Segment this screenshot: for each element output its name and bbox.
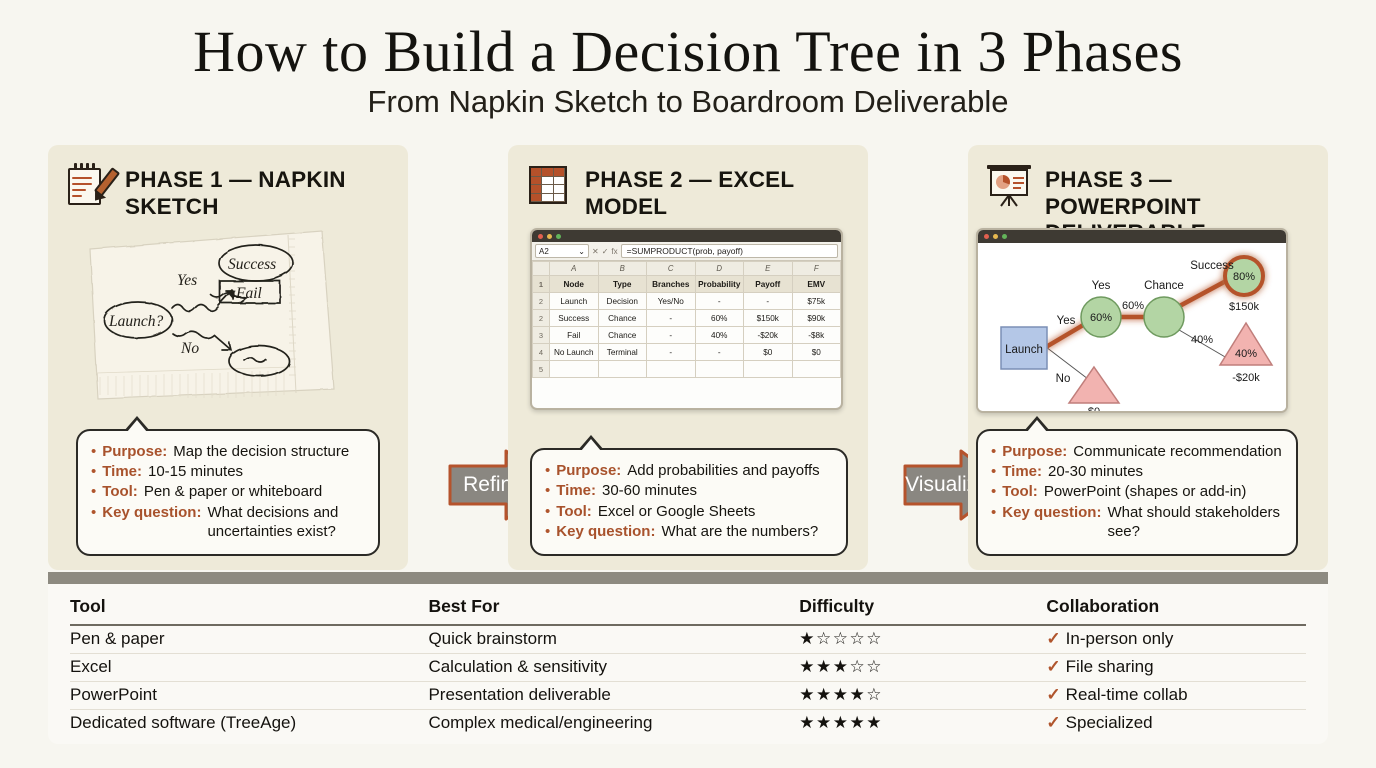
callout-label: Key question:: [1002, 503, 1101, 541]
bullet-icon: •: [545, 522, 550, 541]
formula-input[interactable]: =SUMPRODUCT(prob, payoff): [621, 244, 838, 258]
callout-item: •Time:30-60 minutes: [545, 481, 833, 500]
table-row-empty: 5: [533, 361, 841, 378]
cell-header-branches[interactable]: Branches: [647, 276, 696, 293]
presentation-chart-icon: [986, 161, 1032, 207]
table-row: PowerPoint Presentation deliverable ★★★★…: [70, 681, 1306, 709]
table-row: Pen & paper Quick brainstorm ★☆☆☆☆ ✓In-p…: [70, 625, 1306, 653]
corner-cell[interactable]: [533, 262, 550, 276]
bullet-icon: •: [545, 502, 550, 521]
table-row: 2 Launch Decision Yes/No - - $75k: [533, 293, 841, 310]
bullet-icon: •: [545, 461, 550, 480]
callout-item: •Time:10-15 minutes: [91, 462, 365, 481]
cell-tool: Pen & paper: [70, 625, 428, 653]
svg-text:60%: 60%: [1090, 312, 1112, 324]
svg-text:80%: 80%: [1233, 271, 1255, 283]
cancel-icon[interactable]: ✕: [592, 247, 599, 256]
callout-label: Purpose:: [102, 442, 167, 461]
cell[interactable]: No Launch: [550, 344, 599, 361]
cell-difficulty-stars: ★★★☆☆: [799, 653, 1046, 681]
cell[interactable]: [695, 361, 744, 378]
name-box-value: A2: [539, 247, 549, 256]
row-number[interactable]: 2: [533, 293, 550, 310]
callout-item: •Purpose:Communicate recommendation: [991, 442, 1283, 461]
cell[interactable]: [647, 361, 696, 378]
bullet-icon: •: [91, 482, 96, 501]
cell[interactable]: -: [647, 344, 696, 361]
cell-collaboration: ✓Specialized: [1046, 709, 1306, 737]
svg-text:60%: 60%: [1122, 300, 1144, 312]
cell-header-type[interactable]: Type: [598, 276, 647, 293]
napkin-sketch-image: Launch? Success Fail Yes No: [76, 213, 376, 408]
cell[interactable]: Success: [550, 310, 599, 327]
cell-header-probability[interactable]: Probability: [695, 276, 744, 293]
row-number[interactable]: 1: [533, 276, 550, 293]
page-subtitle: From Napkin Sketch to Boardroom Delivera…: [0, 84, 1376, 120]
window-titlebar: [978, 230, 1286, 243]
table-row: Excel Calculation & sensitivity ★★★☆☆ ✓F…: [70, 653, 1306, 681]
row-number[interactable]: 3: [533, 327, 550, 344]
phase-panel-2: PHASE 2 — EXCEL MODEL A2 ⌄ ✕ ✓ fx: [508, 145, 868, 570]
name-box[interactable]: A2 ⌄: [535, 244, 589, 258]
formula-value: =SUMPRODUCT(prob, payoff): [627, 246, 743, 256]
svg-text:-$20k: -$20k: [1232, 372, 1260, 384]
svg-text:Chance: Chance: [1144, 280, 1184, 292]
callout-label: Key question:: [102, 503, 201, 541]
cell-difficulty-stars: ★☆☆☆☆: [799, 625, 1046, 653]
check-icon: ✓: [1046, 713, 1060, 732]
bullet-icon: •: [91, 462, 96, 481]
column-header-best-for: Best For: [428, 596, 799, 625]
callout-label: Time:: [1002, 462, 1042, 481]
row-number[interactable]: 4: [533, 344, 550, 361]
cell-tool: Excel: [70, 653, 428, 681]
cell[interactable]: 60%: [695, 310, 744, 327]
callout-item: •Tool:Excel or Google Sheets: [545, 502, 833, 521]
callout-text: 20-30 minutes: [1048, 462, 1143, 481]
callout-item: •Purpose:Add probabilities and payoffs: [545, 461, 833, 480]
callout-item: •Key question:What decisions and uncerta…: [91, 503, 365, 541]
spreadsheet-icon: [526, 161, 572, 207]
callout-label: Time:: [556, 481, 596, 500]
callout-text: Add probabilities and payoffs: [627, 461, 819, 480]
function-icon[interactable]: fx: [611, 247, 617, 256]
check-icon: ✓: [1046, 629, 1060, 648]
minimize-window-dot[interactable]: [993, 234, 998, 239]
check-icon: ✓: [1046, 685, 1060, 704]
collaboration-label: In-person only: [1066, 629, 1174, 648]
cell[interactable]: -: [647, 327, 696, 344]
column-header-tool: Tool: [70, 596, 428, 625]
cell[interactable]: $90k: [792, 310, 841, 327]
row-number[interactable]: 2: [533, 310, 550, 327]
column-header-collaboration: Collaboration: [1046, 596, 1306, 625]
cell[interactable]: -: [695, 293, 744, 310]
cell-collaboration: ✓File sharing: [1046, 653, 1306, 681]
cell-header-payoff[interactable]: Payoff: [744, 276, 793, 293]
close-window-dot[interactable]: [984, 234, 989, 239]
callout-text: Map the decision structure: [173, 442, 349, 461]
phase-panels: PHASE 1 — NAPKIN SKETCH: [48, 145, 1328, 570]
cell[interactable]: -: [744, 293, 793, 310]
cell[interactable]: [792, 361, 841, 378]
svg-text:$150k: $150k: [1229, 301, 1259, 313]
callout-item: •Tool:Pen & paper or whiteboard: [91, 482, 365, 501]
cell-collaboration: ✓In-person only: [1046, 625, 1306, 653]
cell-tool: Dedicated software (TreeAge): [70, 709, 428, 737]
callout-text: 10-15 minutes: [148, 462, 243, 481]
phase-2-callout: •Purpose:Add probabilities and payoffs •…: [530, 448, 848, 556]
table-row: Dedicated software (TreeAge) Complex med…: [70, 709, 1306, 737]
cell[interactable]: [744, 361, 793, 378]
comparison-table-section: Tool Best For Difficulty Collaboration P…: [48, 584, 1328, 744]
callout-text: What are the numbers?: [661, 522, 818, 541]
maximize-window-dot[interactable]: [1002, 234, 1007, 239]
formula-bar-row: A2 ⌄ ✕ ✓ fx =SUMPRODUCT(prob, payoff): [532, 242, 841, 261]
column-header-b[interactable]: B: [598, 262, 647, 276]
spreadsheet-grid: A B C D E F 1 Node Type Branches Probabi…: [532, 261, 841, 378]
callout-item: •Purpose:Map the decision structure: [91, 442, 365, 461]
svg-text:Success: Success: [228, 256, 276, 273]
svg-text:40%: 40%: [1191, 334, 1213, 346]
close-window-dot[interactable]: [538, 234, 543, 239]
column-header-e[interactable]: E: [744, 262, 793, 276]
callout-text: Communicate recommendation: [1073, 442, 1281, 461]
cell-best-for: Presentation deliverable: [428, 681, 799, 709]
cell[interactable]: [598, 361, 647, 378]
bullet-icon: •: [91, 442, 96, 461]
table-row: 2 Success Chance - 60% $150k $90k: [533, 310, 841, 327]
callout-label: Time:: [102, 462, 142, 481]
column-header-f[interactable]: F: [792, 262, 841, 276]
cell-best-for: Complex medical/engineering: [428, 709, 799, 737]
cell[interactable]: $150k: [744, 310, 793, 327]
table-row: 3 Fail Chance - 40% -$20k -$8k: [533, 327, 841, 344]
callout-text: Pen & paper or whiteboard: [144, 482, 322, 501]
svg-text:Fail: Fail: [235, 285, 262, 302]
cell[interactable]: Fail: [550, 327, 599, 344]
callout-label: Key question:: [556, 522, 655, 541]
callout-text: Excel or Google Sheets: [598, 502, 756, 521]
bullet-icon: •: [991, 503, 996, 541]
svg-text:Yes: Yes: [1057, 315, 1076, 327]
bullet-icon: •: [91, 503, 96, 541]
cell-difficulty-stars: ★★★★☆: [799, 681, 1046, 709]
bullet-icon: •: [545, 481, 550, 500]
phase-2-header: PHASE 2 — EXCEL MODEL: [526, 161, 856, 220]
svg-text:$0: $0: [1088, 406, 1100, 413]
cell[interactable]: 40%: [695, 327, 744, 344]
cell[interactable]: Terminal: [598, 344, 647, 361]
callout-label: Purpose:: [1002, 442, 1067, 461]
cell[interactable]: Yes/No: [647, 293, 696, 310]
page-title: How to Build a Decision Tree in 3 Phases: [0, 18, 1376, 85]
phase-1-title: PHASE 1 — NAPKIN SKETCH: [125, 161, 396, 220]
column-header-c[interactable]: C: [647, 262, 696, 276]
section-divider: [48, 572, 1328, 584]
svg-text:No: No: [180, 340, 199, 357]
cell[interactable]: Decision: [598, 293, 647, 310]
callout-label: Tool:: [1002, 482, 1038, 501]
powerpoint-window: Launch 60% Yes Chance 80% $150k: [976, 228, 1288, 413]
cell-best-for: Calculation & sensitivity: [428, 653, 799, 681]
bullet-icon: •: [991, 442, 996, 461]
notepad-pencil-icon: [66, 161, 112, 207]
cell[interactable]: Chance: [598, 327, 647, 344]
callout-label: Purpose:: [556, 461, 621, 480]
column-header-d[interactable]: D: [695, 262, 744, 276]
infographic-page: How to Build a Decision Tree in 3 Phases…: [0, 0, 1376, 768]
callout-text: PowerPoint (shapes or add-in): [1044, 482, 1247, 501]
svg-text:40%: 40%: [1235, 348, 1257, 360]
svg-text:Yes: Yes: [177, 272, 197, 289]
cell[interactable]: -: [695, 344, 744, 361]
maximize-window-dot[interactable]: [556, 234, 561, 239]
cell[interactable]: $75k: [792, 293, 841, 310]
cell-best-for: Quick brainstorm: [428, 625, 799, 653]
cell-header-node[interactable]: Node: [550, 276, 599, 293]
row-number[interactable]: 5: [533, 361, 550, 378]
callout-item: •Tool:PowerPoint (shapes or add-in): [991, 482, 1283, 501]
callout-item: •Key question:What are the numbers?: [545, 522, 833, 541]
excel-window: A2 ⌄ ✕ ✓ fx =SUMPRODUCT(prob, payoff) A …: [530, 228, 843, 410]
svg-text:No: No: [1056, 373, 1071, 385]
decision-tree-slide: Launch 60% Yes Chance 80% $150k: [978, 243, 1286, 413]
phase-3-callout: •Purpose:Communicate recommendation •Tim…: [976, 429, 1298, 556]
column-letter-row: A B C D E F: [533, 262, 841, 276]
phase-panel-3: PHASE 3 — POWERPOINT DELIVERABLE: [968, 145, 1328, 570]
collaboration-label: Specialized: [1066, 713, 1153, 732]
callout-text: What should stakeholders see?: [1107, 503, 1283, 541]
table-row: 4 No Launch Terminal - - $0 $0: [533, 344, 841, 361]
svg-text:Launch: Launch: [1005, 344, 1043, 356]
cell[interactable]: Launch: [550, 293, 599, 310]
phase-1-callout: •Purpose:Map the decision structure •Tim…: [76, 429, 380, 556]
table-header-row: Tool Best For Difficulty Collaboration: [70, 596, 1306, 625]
callout-label: Tool:: [102, 482, 138, 501]
window-titlebar: [532, 230, 841, 242]
bullet-icon: •: [991, 462, 996, 481]
comparison-table: Tool Best For Difficulty Collaboration P…: [70, 596, 1306, 737]
cell[interactable]: [550, 361, 599, 378]
chevron-down-icon[interactable]: ⌄: [578, 247, 585, 256]
minimize-window-dot[interactable]: [547, 234, 552, 239]
collaboration-label: File sharing: [1066, 657, 1154, 676]
collaboration-label: Real-time collab: [1066, 685, 1188, 704]
svg-text:Yes: Yes: [1092, 280, 1111, 292]
table-header-row: 1 Node Type Branches Probability Payoff …: [533, 276, 841, 293]
cell[interactable]: $0: [744, 344, 793, 361]
callout-item: •Key question:What should stakeholders s…: [991, 503, 1283, 541]
cell-tool: PowerPoint: [70, 681, 428, 709]
phase-1-header: PHASE 1 — NAPKIN SKETCH: [66, 161, 396, 220]
phase-panel-1: PHASE 1 — NAPKIN SKETCH: [48, 145, 408, 570]
cell[interactable]: Chance: [598, 310, 647, 327]
svg-text:Launch?: Launch?: [108, 313, 164, 330]
callout-text: 30-60 minutes: [602, 481, 697, 500]
cell[interactable]: -$20k: [744, 327, 793, 344]
column-header-a[interactable]: A: [550, 262, 599, 276]
column-header-difficulty: Difficulty: [799, 596, 1046, 625]
callout-label: Tool:: [556, 502, 592, 521]
svg-text:Success: Success: [1190, 260, 1234, 272]
callout-item: •Time:20-30 minutes: [991, 462, 1283, 481]
cell-header-emv[interactable]: EMV: [792, 276, 841, 293]
cell[interactable]: -$8k: [792, 327, 841, 344]
confirm-icon[interactable]: ✓: [602, 247, 609, 256]
cell-difficulty-stars: ★★★★★: [799, 709, 1046, 737]
bullet-icon: •: [991, 482, 996, 501]
callout-text: What decisions and uncertainties exist?: [207, 503, 365, 541]
cell[interactable]: $0: [792, 344, 841, 361]
cell[interactable]: -: [647, 310, 696, 327]
cell-collaboration: ✓Real-time collab: [1046, 681, 1306, 709]
phase-2-title: PHASE 2 — EXCEL MODEL: [585, 161, 856, 220]
check-icon: ✓: [1046, 657, 1060, 676]
